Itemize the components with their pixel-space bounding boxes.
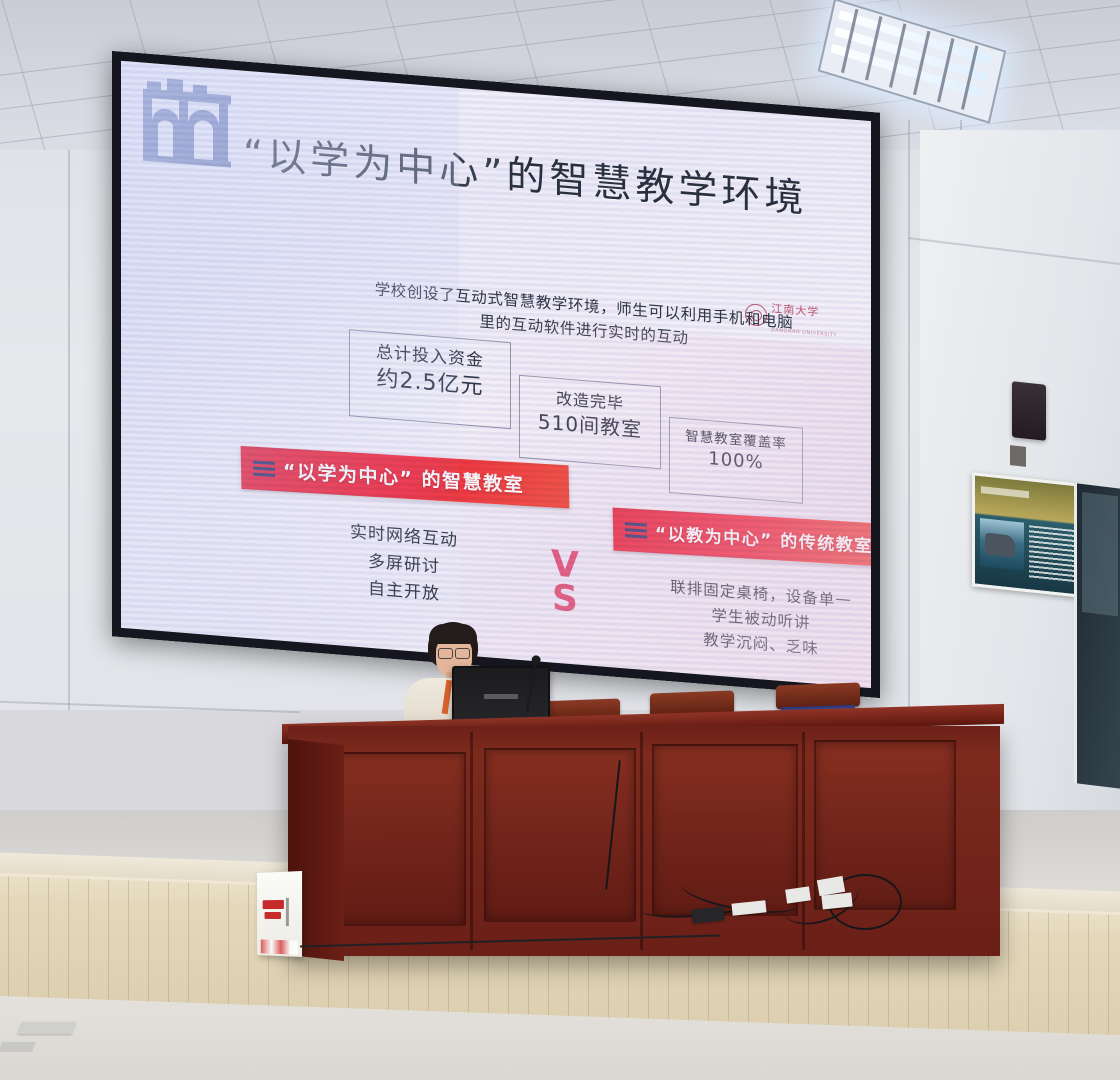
wall-speaker xyxy=(1012,381,1046,441)
poster-text-lines xyxy=(1029,525,1075,584)
power-adapter xyxy=(691,906,724,923)
slide-title: “以学为中心”的智慧教学环境 xyxy=(243,123,833,226)
bag-text-block xyxy=(263,900,284,909)
wall-seam xyxy=(68,150,70,710)
floor-plate xyxy=(18,1022,77,1034)
stat-box-coverage: 智慧教室覆盖率 100% xyxy=(669,417,803,504)
banner-bars-icon xyxy=(253,461,275,477)
slide-title-quoted: “以学为中心” xyxy=(243,132,506,198)
floor-plate xyxy=(0,1042,36,1052)
banner-right-rest: 的传统教室 xyxy=(780,531,871,557)
podium-panel xyxy=(484,748,636,922)
projection-screen: 江南大学 JIANGNAN UNIVERSITY “以学为中心”的智慧教学环境 … xyxy=(112,51,880,698)
campus-arch-illustration xyxy=(141,70,233,173)
wall-sensor xyxy=(1010,445,1026,467)
bag-graphic xyxy=(261,939,298,954)
banner-traditional-classroom: “以教为中心” 的传统教室 xyxy=(613,508,871,569)
stat-box-investment: 总计投入资金 约2.5亿元 xyxy=(349,329,511,429)
laptop-logo xyxy=(484,694,518,699)
presenter-fringe xyxy=(429,624,477,644)
presenter-glasses xyxy=(438,648,470,657)
slide-title-rest: 的智慧教学环境 xyxy=(506,153,807,222)
photo-scene: 江南大学 JIANGNAN UNIVERSITY “以学为中心”的智慧教学环境 … xyxy=(0,0,1120,1080)
banner-left-rest: 的智慧教室 xyxy=(421,469,524,497)
floor-cables-and-power-strips xyxy=(640,868,920,938)
list-traditional-classroom: 联排固定桌椅，设备单一 学生被动听讲 教学沉闷、乏味 xyxy=(641,573,871,668)
vs-letter-s: S xyxy=(551,582,580,619)
side-door[interactable] xyxy=(1074,483,1120,789)
poster-heading xyxy=(981,486,1029,498)
framed-wall-poster xyxy=(972,472,1082,598)
podium-divider xyxy=(470,732,473,950)
vs-label: V S xyxy=(551,547,580,618)
bag-side-text xyxy=(286,898,289,926)
banner-right-quoted: “以教为中心” xyxy=(655,524,773,551)
wall-seam xyxy=(908,120,910,720)
list-smart-classroom: 实时网络互动 多屏研讨 自主开放 xyxy=(299,515,509,614)
stat-box-classrooms: 改造完毕 510间教室 xyxy=(519,375,661,469)
banner-left-quoted: “以学为中心” xyxy=(283,460,414,490)
paper-gift-bag xyxy=(257,871,302,957)
slide-surface: 江南大学 JIANGNAN UNIVERSITY “以学为中心”的智慧教学环境 … xyxy=(121,61,871,688)
banner-bars-icon xyxy=(625,522,647,538)
power-adapter xyxy=(731,900,766,915)
door-glass xyxy=(1082,492,1118,616)
poster-photo-subject xyxy=(985,533,1015,558)
bag-text-block xyxy=(265,912,281,919)
